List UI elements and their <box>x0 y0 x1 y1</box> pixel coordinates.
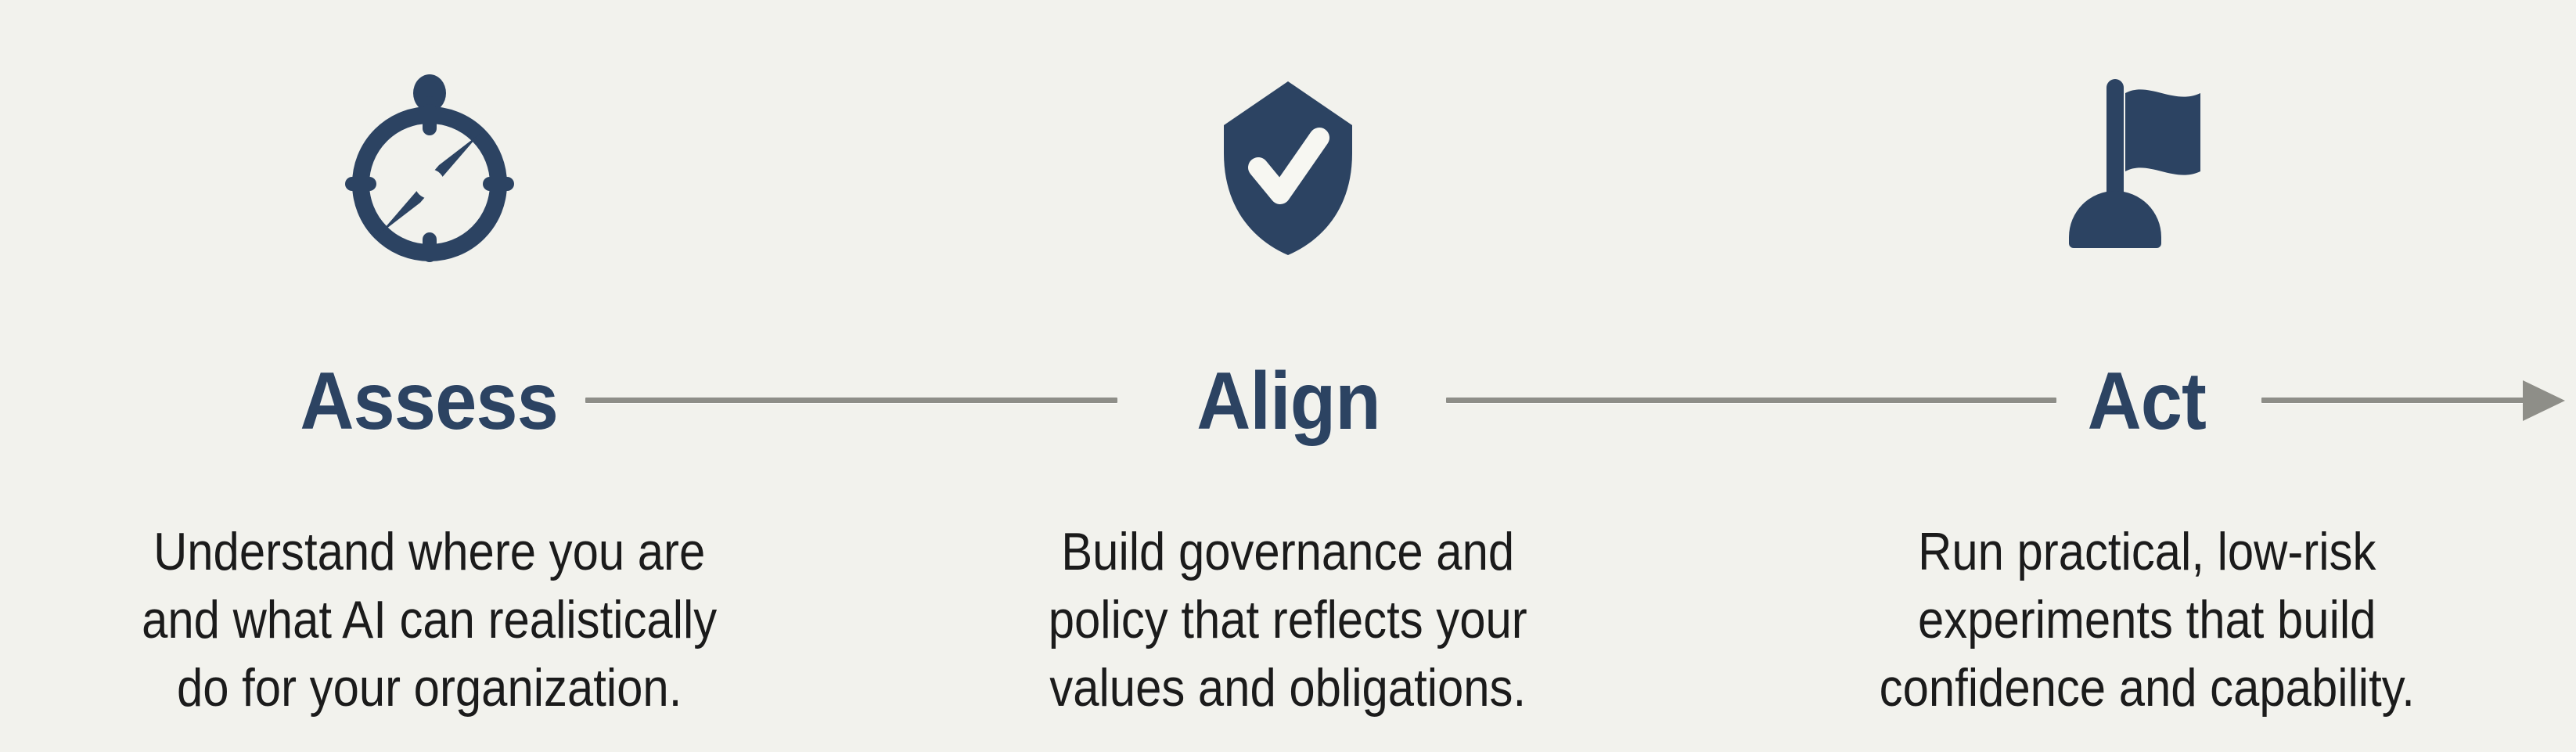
step-description-container: Build governance and policy that reflect… <box>858 470 1718 752</box>
connector-line-align-to-act <box>1446 398 2056 403</box>
connector-line-assess-to-align <box>585 398 1117 403</box>
step-column-act: Act Run practical, low-risk experiments … <box>1718 0 2576 752</box>
step-icon-container <box>0 0 858 336</box>
step-description-container: Run practical, low-risk experiments that… <box>1718 470 2576 752</box>
step-icon-container <box>1718 0 2576 336</box>
compass-icon <box>328 74 531 262</box>
step-description: Build governance and policy that reflect… <box>1049 518 1527 722</box>
step-column-assess: Assess Understand where you are and what… <box>0 0 858 752</box>
step-heading: Assess <box>300 361 559 442</box>
step-icon-container <box>858 0 1718 336</box>
step-heading: Act <box>2088 361 2206 442</box>
shield-check-icon <box>1218 78 1358 258</box>
arrow-right-icon <box>2523 380 2565 421</box>
connector-line-act-to-end <box>2261 398 2527 403</box>
step-description: Run practical, low-risk experiments that… <box>1879 518 2414 722</box>
step-description: Understand where you are and what AI can… <box>142 518 717 722</box>
step-column-align: Align Build governance and policy that r… <box>858 0 1718 752</box>
step-description-container: Understand where you are and what AI can… <box>0 470 858 752</box>
flag-icon <box>2061 74 2233 262</box>
infographic-canvas: Assess Understand where you are and what… <box>0 0 2576 752</box>
step-heading: Align <box>1196 361 1380 442</box>
